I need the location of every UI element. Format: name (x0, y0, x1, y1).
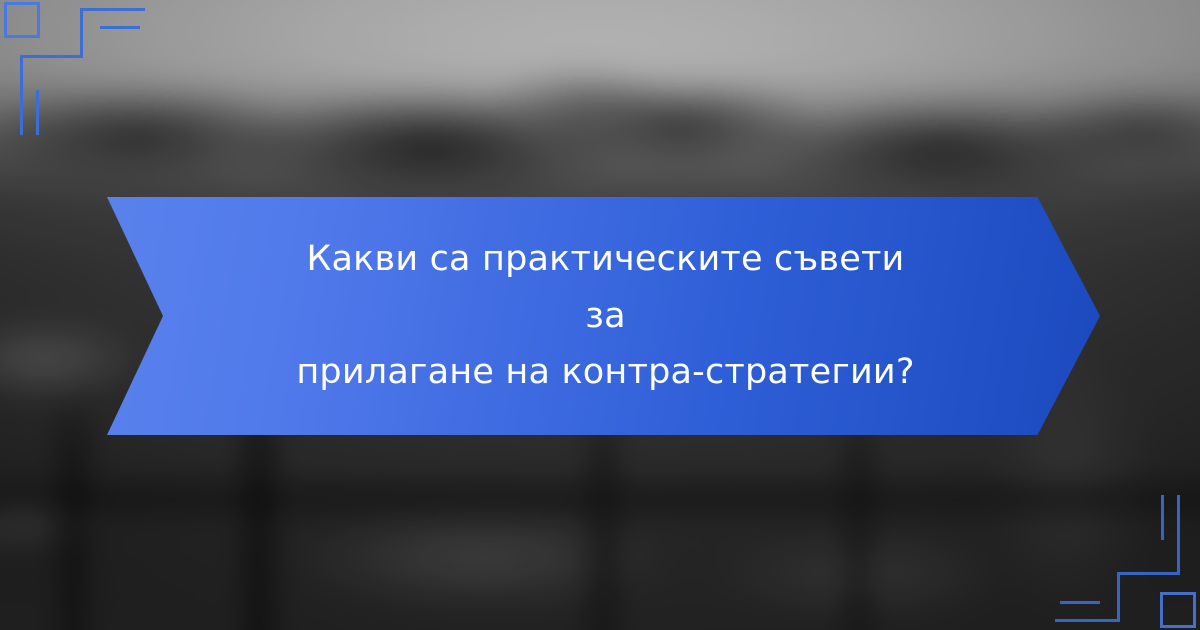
corner-line-vertical-long (20, 55, 23, 135)
corner-square-icon (1160, 592, 1196, 628)
corner-decoration-bottom-right (1030, 480, 1200, 630)
corner-line-elbow-horizontal (20, 55, 83, 58)
corner-square-icon (4, 2, 40, 38)
headline-text: Какви са практическите съвети за прилага… (286, 231, 926, 401)
corner-decoration-top-left (0, 0, 170, 150)
corner-line-horizontal-outer (1055, 619, 1120, 622)
share-card-canvas: Какви са практическите съвети за прилага… (0, 0, 1200, 630)
corner-line-vertical-outer (1117, 572, 1120, 622)
corner-line-vertical-long (1177, 495, 1180, 575)
corner-line-horizontal-inner (1060, 601, 1100, 604)
headline-line-2: прилагане на контра-стратегии? (286, 344, 926, 401)
corner-line-horizontal-outer (80, 8, 145, 11)
corner-line-elbow-horizontal (1117, 572, 1180, 575)
headline-line-1: Какви са практическите съвети за (286, 231, 926, 344)
corner-line-vertical-short (36, 90, 39, 135)
headline-banner: Какви са практическите съвети за прилага… (107, 197, 1100, 435)
corner-line-horizontal-inner (100, 26, 140, 29)
corner-line-vertical-short (1161, 495, 1164, 540)
corner-line-vertical-outer (80, 8, 83, 58)
